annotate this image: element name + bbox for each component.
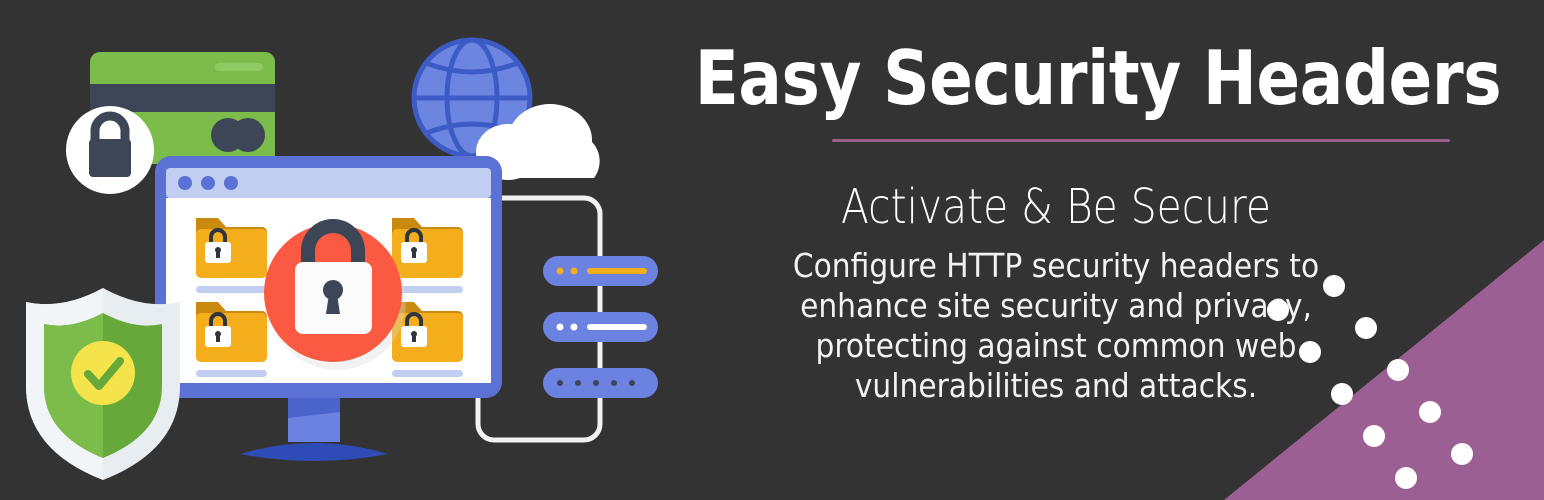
security-headers-banner: Easy Security Headers Activate & Be Secu… xyxy=(0,0,1544,500)
shield-check-icon xyxy=(26,288,180,480)
monitor xyxy=(155,156,502,461)
lock-badge-icon xyxy=(66,106,154,194)
card-network-logo xyxy=(211,118,265,152)
title-divider xyxy=(832,139,1450,142)
page-title: Easy Security Headers xyxy=(695,36,1417,120)
banner-description: Configure HTTP security headers to enhan… xyxy=(732,246,1380,406)
security-illustration xyxy=(0,0,680,500)
banner-subtitle: Activate & Be Secure xyxy=(699,178,1413,236)
banner-text-column: Easy Security Headers Activate & Be Secu… xyxy=(636,0,1476,500)
